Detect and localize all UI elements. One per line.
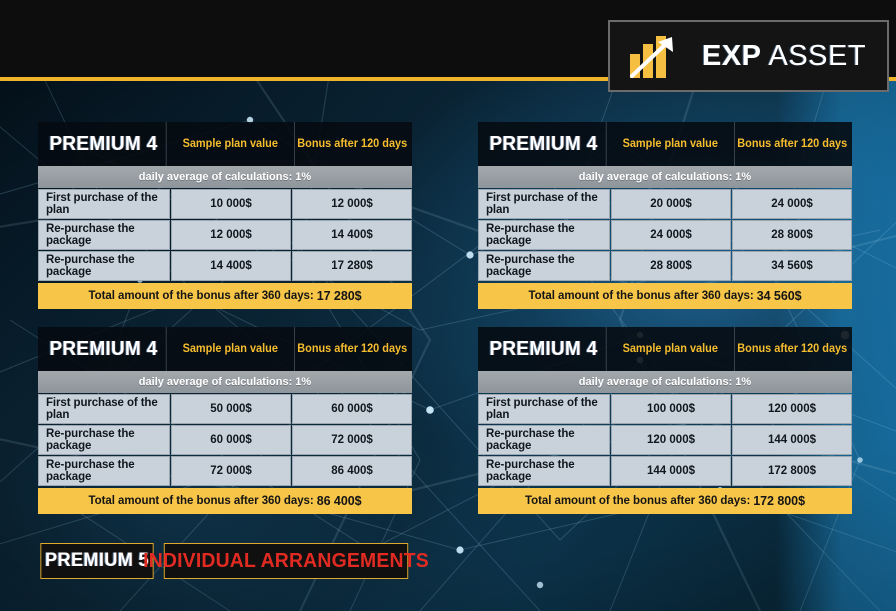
cell-sample-plan-value: 28 800$ xyxy=(611,251,731,281)
cell-bonus-value: 28 800$ xyxy=(732,220,852,250)
total-value: 172 800$ xyxy=(753,494,805,508)
column-header-bonus-after-120-days: Bonus after 120 days xyxy=(294,327,409,371)
table-header-row: PREMIUM 4 Sample plan value Bonus after … xyxy=(38,122,412,166)
plan-name: PREMIUM 4 xyxy=(481,122,606,166)
total-bonus-bar: Total amount of the bonus after 360 days… xyxy=(478,488,852,514)
daily-average-subheader: daily average of calculations: 1% xyxy=(478,371,852,393)
table-row: First purchase of the plan 100 000$ 120 … xyxy=(478,394,852,424)
table-row: Re-purchase the package 144 000$ 172 800… xyxy=(478,456,852,486)
cell-sample-plan-value: 12 000$ xyxy=(171,220,291,250)
cell-bonus-value: 144 000$ xyxy=(732,425,852,455)
row-label: Re-purchase the package xyxy=(478,456,610,486)
plan-name: PREMIUM 4 xyxy=(41,122,166,166)
cell-bonus-value: 12 000$ xyxy=(292,189,412,219)
cell-sample-plan-value: 50 000$ xyxy=(171,394,291,424)
table-header-row: PREMIUM 4 Sample plan value Bonus after … xyxy=(478,122,852,166)
cell-sample-plan-value: 24 000$ xyxy=(611,220,731,250)
row-label: Re-purchase the package xyxy=(38,456,170,486)
column-header-bonus-after-120-days: Bonus after 120 days xyxy=(734,122,849,166)
row-label: First purchase of the plan xyxy=(478,394,610,424)
cell-bonus-value: 17 280$ xyxy=(292,251,412,281)
premium5-banner: PREMIUM 5 INDIVIDUAL ARRANGEMENTS xyxy=(38,543,412,579)
cell-bonus-value: 60 000$ xyxy=(292,394,412,424)
logo-word-exp: EXP xyxy=(702,40,762,72)
table-row: Re-purchase the package 120 000$ 144 000… xyxy=(478,425,852,455)
table-header-row: PREMIUM 4 Sample plan value Bonus after … xyxy=(38,327,412,371)
row-label: First purchase of the plan xyxy=(478,189,610,219)
table-row: Re-purchase the package 72 000$ 86 400$ xyxy=(38,456,412,486)
table-row: First purchase of the plan 20 000$ 24 00… xyxy=(478,189,852,219)
daily-average-subheader: daily average of calculations: 1% xyxy=(38,371,412,393)
calculation-table: PREMIUM 4 Sample plan value Bonus after … xyxy=(478,327,852,514)
table-row: Re-purchase the package 28 800$ 34 560$ xyxy=(478,251,852,281)
cell-sample-plan-value: 20 000$ xyxy=(611,189,731,219)
row-label: Re-purchase the package xyxy=(478,251,610,281)
total-bonus-bar: Total amount of the bonus after 360 days… xyxy=(38,283,412,309)
total-label: Total amount of the bonus after 360 days… xyxy=(88,495,313,507)
column-header-sample-plan-value: Sample plan value xyxy=(613,327,727,371)
total-bonus-bar: Total amount of the bonus after 360 days… xyxy=(38,488,412,514)
row-label: First purchase of the plan xyxy=(38,394,170,424)
column-header-sample-plan-value: Sample plan value xyxy=(173,122,287,166)
table-row: First purchase of the plan 10 000$ 12 00… xyxy=(38,189,412,219)
table-row: Re-purchase the package 60 000$ 72 000$ xyxy=(38,425,412,455)
table-row: Re-purchase the package 12 000$ 14 400$ xyxy=(38,220,412,250)
cell-bonus-value: 72 000$ xyxy=(292,425,412,455)
cell-sample-plan-value: 10 000$ xyxy=(171,189,291,219)
total-value: 34 560$ xyxy=(757,289,802,303)
daily-average-subheader: daily average of calculations: 1% xyxy=(38,166,412,188)
premium5-badge: PREMIUM 5 xyxy=(40,543,153,579)
total-label: Total amount of the bonus after 360 days… xyxy=(528,290,753,302)
cell-sample-plan-value: 100 000$ xyxy=(611,394,731,424)
cell-bonus-value: 86 400$ xyxy=(292,456,412,486)
calculation-table: PREMIUM 4 Sample plan value Bonus after … xyxy=(38,122,412,309)
cell-sample-plan-value: 144 000$ xyxy=(611,456,731,486)
plan-name: PREMIUM 4 xyxy=(481,327,606,371)
total-value: 17 280$ xyxy=(317,289,362,303)
total-label: Total amount of the bonus after 360 days… xyxy=(525,495,750,507)
daily-average-subheader: daily average of calculations: 1% xyxy=(478,166,852,188)
cell-bonus-value: 120 000$ xyxy=(732,394,852,424)
column-header-bonus-after-120-days: Bonus after 120 days xyxy=(734,327,849,371)
table-header-row: PREMIUM 4 Sample plan value Bonus after … xyxy=(478,327,852,371)
table-row: First purchase of the plan 50 000$ 60 00… xyxy=(38,394,412,424)
cell-sample-plan-value: 14 400$ xyxy=(171,251,291,281)
calculation-table: PREMIUM 4 Sample plan value Bonus after … xyxy=(478,122,852,309)
cell-bonus-value: 34 560$ xyxy=(732,251,852,281)
column-header-sample-plan-value: Sample plan value xyxy=(173,327,287,371)
row-label: Re-purchase the package xyxy=(478,425,610,455)
row-label: Re-purchase the package xyxy=(38,220,170,250)
plan-name: PREMIUM 4 xyxy=(41,327,166,371)
total-value: 86 400$ xyxy=(317,494,362,508)
logo-word-asset: ASSET xyxy=(762,40,867,72)
logo-wordmark: EXP ASSET xyxy=(702,40,866,73)
table-row: Re-purchase the package 14 400$ 17 280$ xyxy=(38,251,412,281)
cell-sample-plan-value: 120 000$ xyxy=(611,425,731,455)
cell-sample-plan-value: 60 000$ xyxy=(171,425,291,455)
row-label: Re-purchase the package xyxy=(478,220,610,250)
column-header-sample-plan-value: Sample plan value xyxy=(613,122,727,166)
cell-sample-plan-value: 72 000$ xyxy=(171,456,291,486)
exp-asset-logo[interactable]: EXP ASSET xyxy=(608,20,889,92)
row-label: Re-purchase the package xyxy=(38,251,170,281)
calculation-table: PREMIUM 4 Sample plan value Bonus after … xyxy=(38,327,412,514)
bar-chart-arrow-icon xyxy=(628,32,690,80)
row-label: First purchase of the plan xyxy=(38,189,170,219)
total-label: Total amount of the bonus after 360 days… xyxy=(88,290,313,302)
cell-bonus-value: 14 400$ xyxy=(292,220,412,250)
total-bonus-bar: Total amount of the bonus after 360 days… xyxy=(478,283,852,309)
row-label: Re-purchase the package xyxy=(38,425,170,455)
individual-arrangements-note: INDIVIDUAL ARRANGEMENTS xyxy=(164,543,408,579)
cell-bonus-value: 172 800$ xyxy=(732,456,852,486)
table-row: Re-purchase the package 24 000$ 28 800$ xyxy=(478,220,852,250)
slide-root: EXAMPLES OF CALCULATIONS INDEPENDENT PAR… xyxy=(0,0,896,611)
cell-bonus-value: 24 000$ xyxy=(732,189,852,219)
column-header-bonus-after-120-days: Bonus after 120 days xyxy=(294,122,409,166)
